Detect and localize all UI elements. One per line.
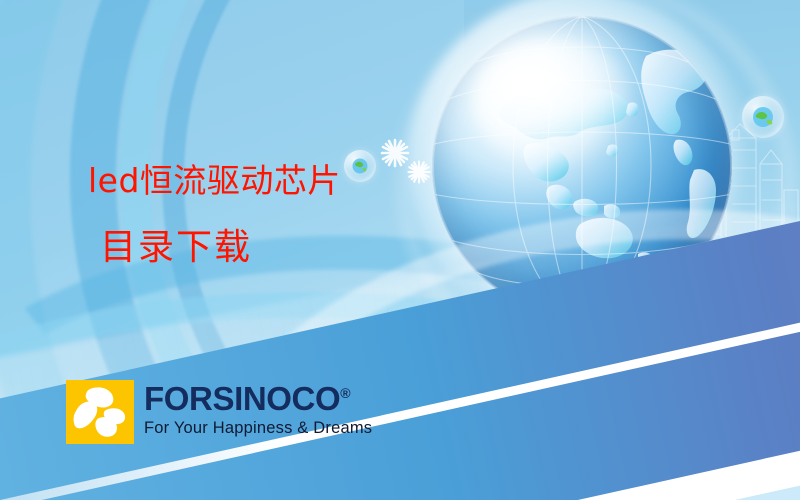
slide-canvas: led恒流驱动芯片 目录下载 FORSINOCO® For Your Happi… [0,0,800,500]
sparkle-icon-small [407,160,431,184]
logo-tagline: For Your Happiness & Dreams [144,420,372,437]
mini-globe-icon-2 [742,96,784,138]
logo-text-block: FORSINOCO® For Your Happiness & Dreams [144,380,372,437]
headline-line-1: led恒流驱动芯片 [88,164,341,197]
company-logo: FORSINOCO® For Your Happiness & Dreams [66,380,372,444]
logo-name: FORSINOCO® [144,382,372,415]
sparkle-icon [380,138,410,168]
bubble-with-globe-1 [344,150,376,182]
logo-name-text: FORSINOCO [144,380,340,417]
globe-specular-highlight [474,40,636,172]
pinwheel-petals [66,380,134,444]
pinwheel-flower-icon [66,380,134,444]
bubble-with-globe-2 [742,96,784,138]
registered-mark: ® [340,385,350,401]
headline-line-2: 目录下载 [100,230,252,266]
mini-globe-icon [344,150,376,182]
